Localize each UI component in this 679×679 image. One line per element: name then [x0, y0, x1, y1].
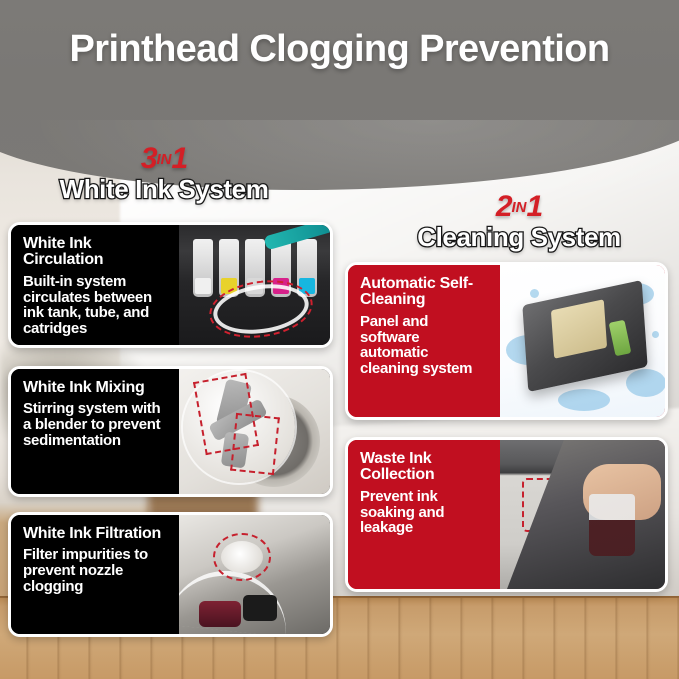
filter-dashed-outline [213, 533, 271, 581]
badge-number: 3 [141, 142, 157, 175]
card-description: Stirring system with a blender to preven… [23, 401, 169, 448]
ink-pump [243, 595, 277, 621]
badge-of-number: 1 [527, 190, 543, 223]
badge-3-in-1: 3IN1 [14, 144, 314, 174]
card-media-filter [179, 515, 330, 634]
card-description: Panel and software automatic cleaning sy… [360, 314, 490, 376]
badge-number: 2 [496, 190, 512, 223]
card-media-mixer [179, 369, 330, 494]
badge-in-label: IN [512, 199, 527, 216]
water-splash-3 [626, 369, 665, 397]
badge-of-number: 1 [172, 142, 188, 175]
card-title: White Ink Filtration [23, 526, 169, 542]
card-description: Built-in system circulates between ink t… [23, 274, 169, 336]
card-text-block: White Ink Circulation Built-in system ci… [11, 225, 179, 345]
badge-2-in-1: 2IN1 [374, 192, 664, 222]
card-title: White Ink Mixing [23, 380, 169, 396]
card-text-block: White Ink Mixing Stirring system with a … [11, 369, 179, 494]
section-heading-cleaning: 2IN1 Cleaning System [374, 192, 664, 252]
blender-photo [179, 369, 330, 494]
ink-filter-photo [179, 515, 330, 634]
section-title-cleaning: Cleaning System [374, 223, 664, 252]
card-title: Waste Ink Collection [360, 451, 490, 484]
water-droplet-1 [530, 289, 539, 298]
card-media-waste-ink [500, 440, 665, 589]
card-title: White Ink Circulation [23, 236, 169, 269]
printhead-splash-photo [500, 265, 665, 417]
ink-tank-photo [179, 225, 330, 345]
card-description: Filter impurities to prevent nozzle clog… [23, 547, 169, 594]
blender-dashed-outline-2 [230, 413, 280, 475]
section-heading-white-ink: 3IN1 White Ink System [14, 144, 314, 204]
feature-card-waste-ink-collection: Waste Ink Collection Prevent ink soaking… [345, 437, 668, 592]
waste-ink-bottle [589, 494, 635, 556]
badge-in-label: IN [157, 151, 172, 168]
ink-tank-white [193, 239, 213, 297]
feature-card-automatic-self-cleaning: Automatic Self-Cleaning Panel and softwa… [345, 262, 668, 420]
magnified-blender-circle [183, 371, 295, 483]
card-media-printhead [500, 265, 665, 417]
card-text-block: White Ink Filtration Filter impurities t… [11, 515, 179, 634]
card-description: Prevent ink soaking and leakage [360, 489, 490, 536]
product-infographic-poster: Printhead Clogging Prevention 3IN1 White… [0, 0, 679, 679]
card-title: Automatic Self-Cleaning [360, 276, 490, 309]
page-title: Printhead Clogging Prevention [0, 28, 679, 71]
card-text-block: Waste Ink Collection Prevent ink soaking… [348, 440, 500, 589]
card-media-ink-tanks [179, 225, 330, 345]
tubing-bundle [199, 601, 241, 627]
section-title-white-ink: White Ink System [14, 175, 314, 204]
feature-card-white-ink-mixing: White Ink Mixing Stirring system with a … [8, 366, 333, 497]
waste-ink-photo [500, 440, 665, 589]
water-droplet-2 [652, 331, 659, 338]
feature-card-white-ink-filtration: White Ink Filtration Filter impurities t… [8, 512, 333, 637]
water-splash-4 [558, 389, 610, 411]
card-text-block: Automatic Self-Cleaning Panel and softwa… [348, 265, 500, 417]
feature-card-white-ink-circulation: White Ink Circulation Built-in system ci… [8, 222, 333, 348]
